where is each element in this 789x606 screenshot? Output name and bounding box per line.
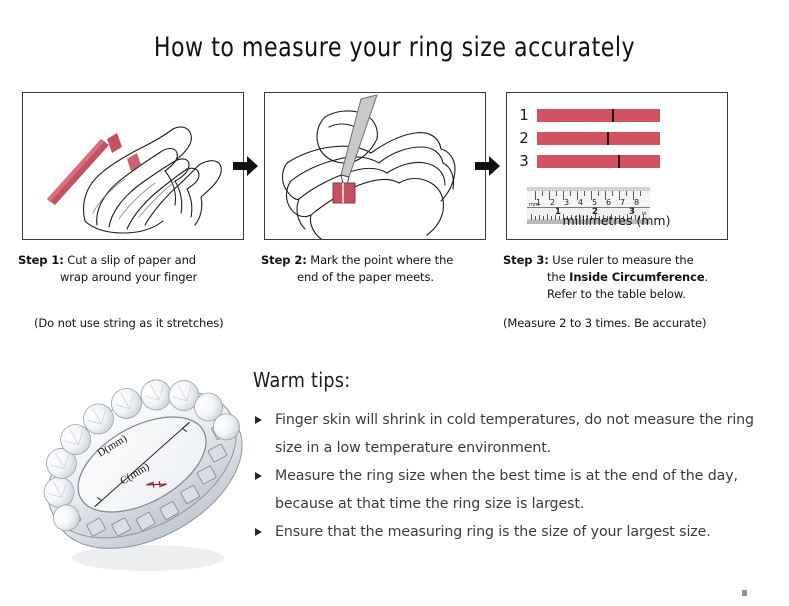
strip-mark-1 [612,109,614,122]
warm-tips-list: Finger skin will shrink in cold temperat… [253,406,775,546]
page-title: How to measure your ring size accurately [71,32,718,63]
step-2-line2: end of the paper meets. [261,269,493,286]
step-1-caption: Step 1: Cut a slip of paper and wrap aro… [18,252,250,286]
arrow-right-icon-2 [475,155,501,177]
strip-bar-2 [537,132,660,145]
step-3-line2-pre: the [547,270,569,284]
step-2-caption: Step 2: Mark the point where the end of … [261,252,493,286]
strip-number-3: 3 [517,152,531,170]
cm-tick-2: 2 [550,199,555,207]
triangle-bullet-icon [255,528,262,536]
step-3-line1: Use ruler to measure the [549,253,694,267]
triangle-bullet-icon [255,416,262,424]
cm-tick-1: 1 [536,199,541,207]
cm-tick-5: 5 [592,199,597,207]
step-2-line1: Mark the point where the [307,253,454,267]
strip-mark-3 [618,155,620,168]
cm-tick-7: 7 [620,199,625,207]
step-1-note: (Do not use string as it stretches) [34,316,223,330]
step-1-line1: Cut a slip of paper and [64,253,196,267]
cm-tick-8: 8 [634,199,639,207]
step-1-label: Step 1: [18,253,64,267]
warm-tips-heading: Warm tips: [253,368,350,392]
paper-strip-red [47,139,109,205]
step-3-label: Step 3: [503,253,549,267]
tip-item-1: Finger skin will shrink in cold temperat… [253,406,775,462]
triangle-bullet-icon [255,472,262,480]
hand-marking-paper-illustration [265,93,485,239]
step-3-line3: Refer to the table below. [503,286,741,303]
step-3-caption: Step 3: Use ruler to measure the the Ins… [503,252,741,303]
step-1-line2: wrap around your finger [18,269,250,286]
paper-strip-red-wrapped [333,183,355,203]
strip-bar-1 [537,109,660,122]
cm-tick-3: 3 [564,199,569,207]
step-1-panel [22,92,244,240]
step-2-panel [264,92,486,240]
tip-text-3: Ensure that the measuring ring is the si… [275,524,711,540]
step-3-line2-post: . [705,270,709,284]
strip-number-1: 1 [517,106,531,124]
millimetres-label: millimetres (mm) [507,213,726,228]
tip-item-2: Measure the ring size when the best time… [253,462,775,518]
step-3-line2: the Inside Circumference. [503,269,741,286]
tip-item-3: Ensure that the measuring ring is the si… [253,518,775,546]
tip-text-1: Finger skin will shrink in cold temperat… [275,412,754,456]
step-3-note: (Measure 2 to 3 times. Be accurate) [503,316,706,330]
step-2-label: Step 2: [261,253,307,267]
strip-bar-3 [537,155,660,168]
strip-number-2: 2 [517,129,531,147]
step-3-panel: 1 2 3 mm [506,92,728,240]
hand-with-paper-strip-illustration [23,93,243,239]
corner-artifact [742,590,747,596]
cm-tick-6: 6 [606,199,611,207]
arrow-right-icon-1 [233,155,259,177]
tip-text-2: Measure the ring size when the best time… [275,468,738,512]
inside-circumference-emphasis: Inside Circumference [569,270,704,284]
strip-mark-2 [607,132,609,145]
cm-tick-4: 4 [578,199,583,207]
